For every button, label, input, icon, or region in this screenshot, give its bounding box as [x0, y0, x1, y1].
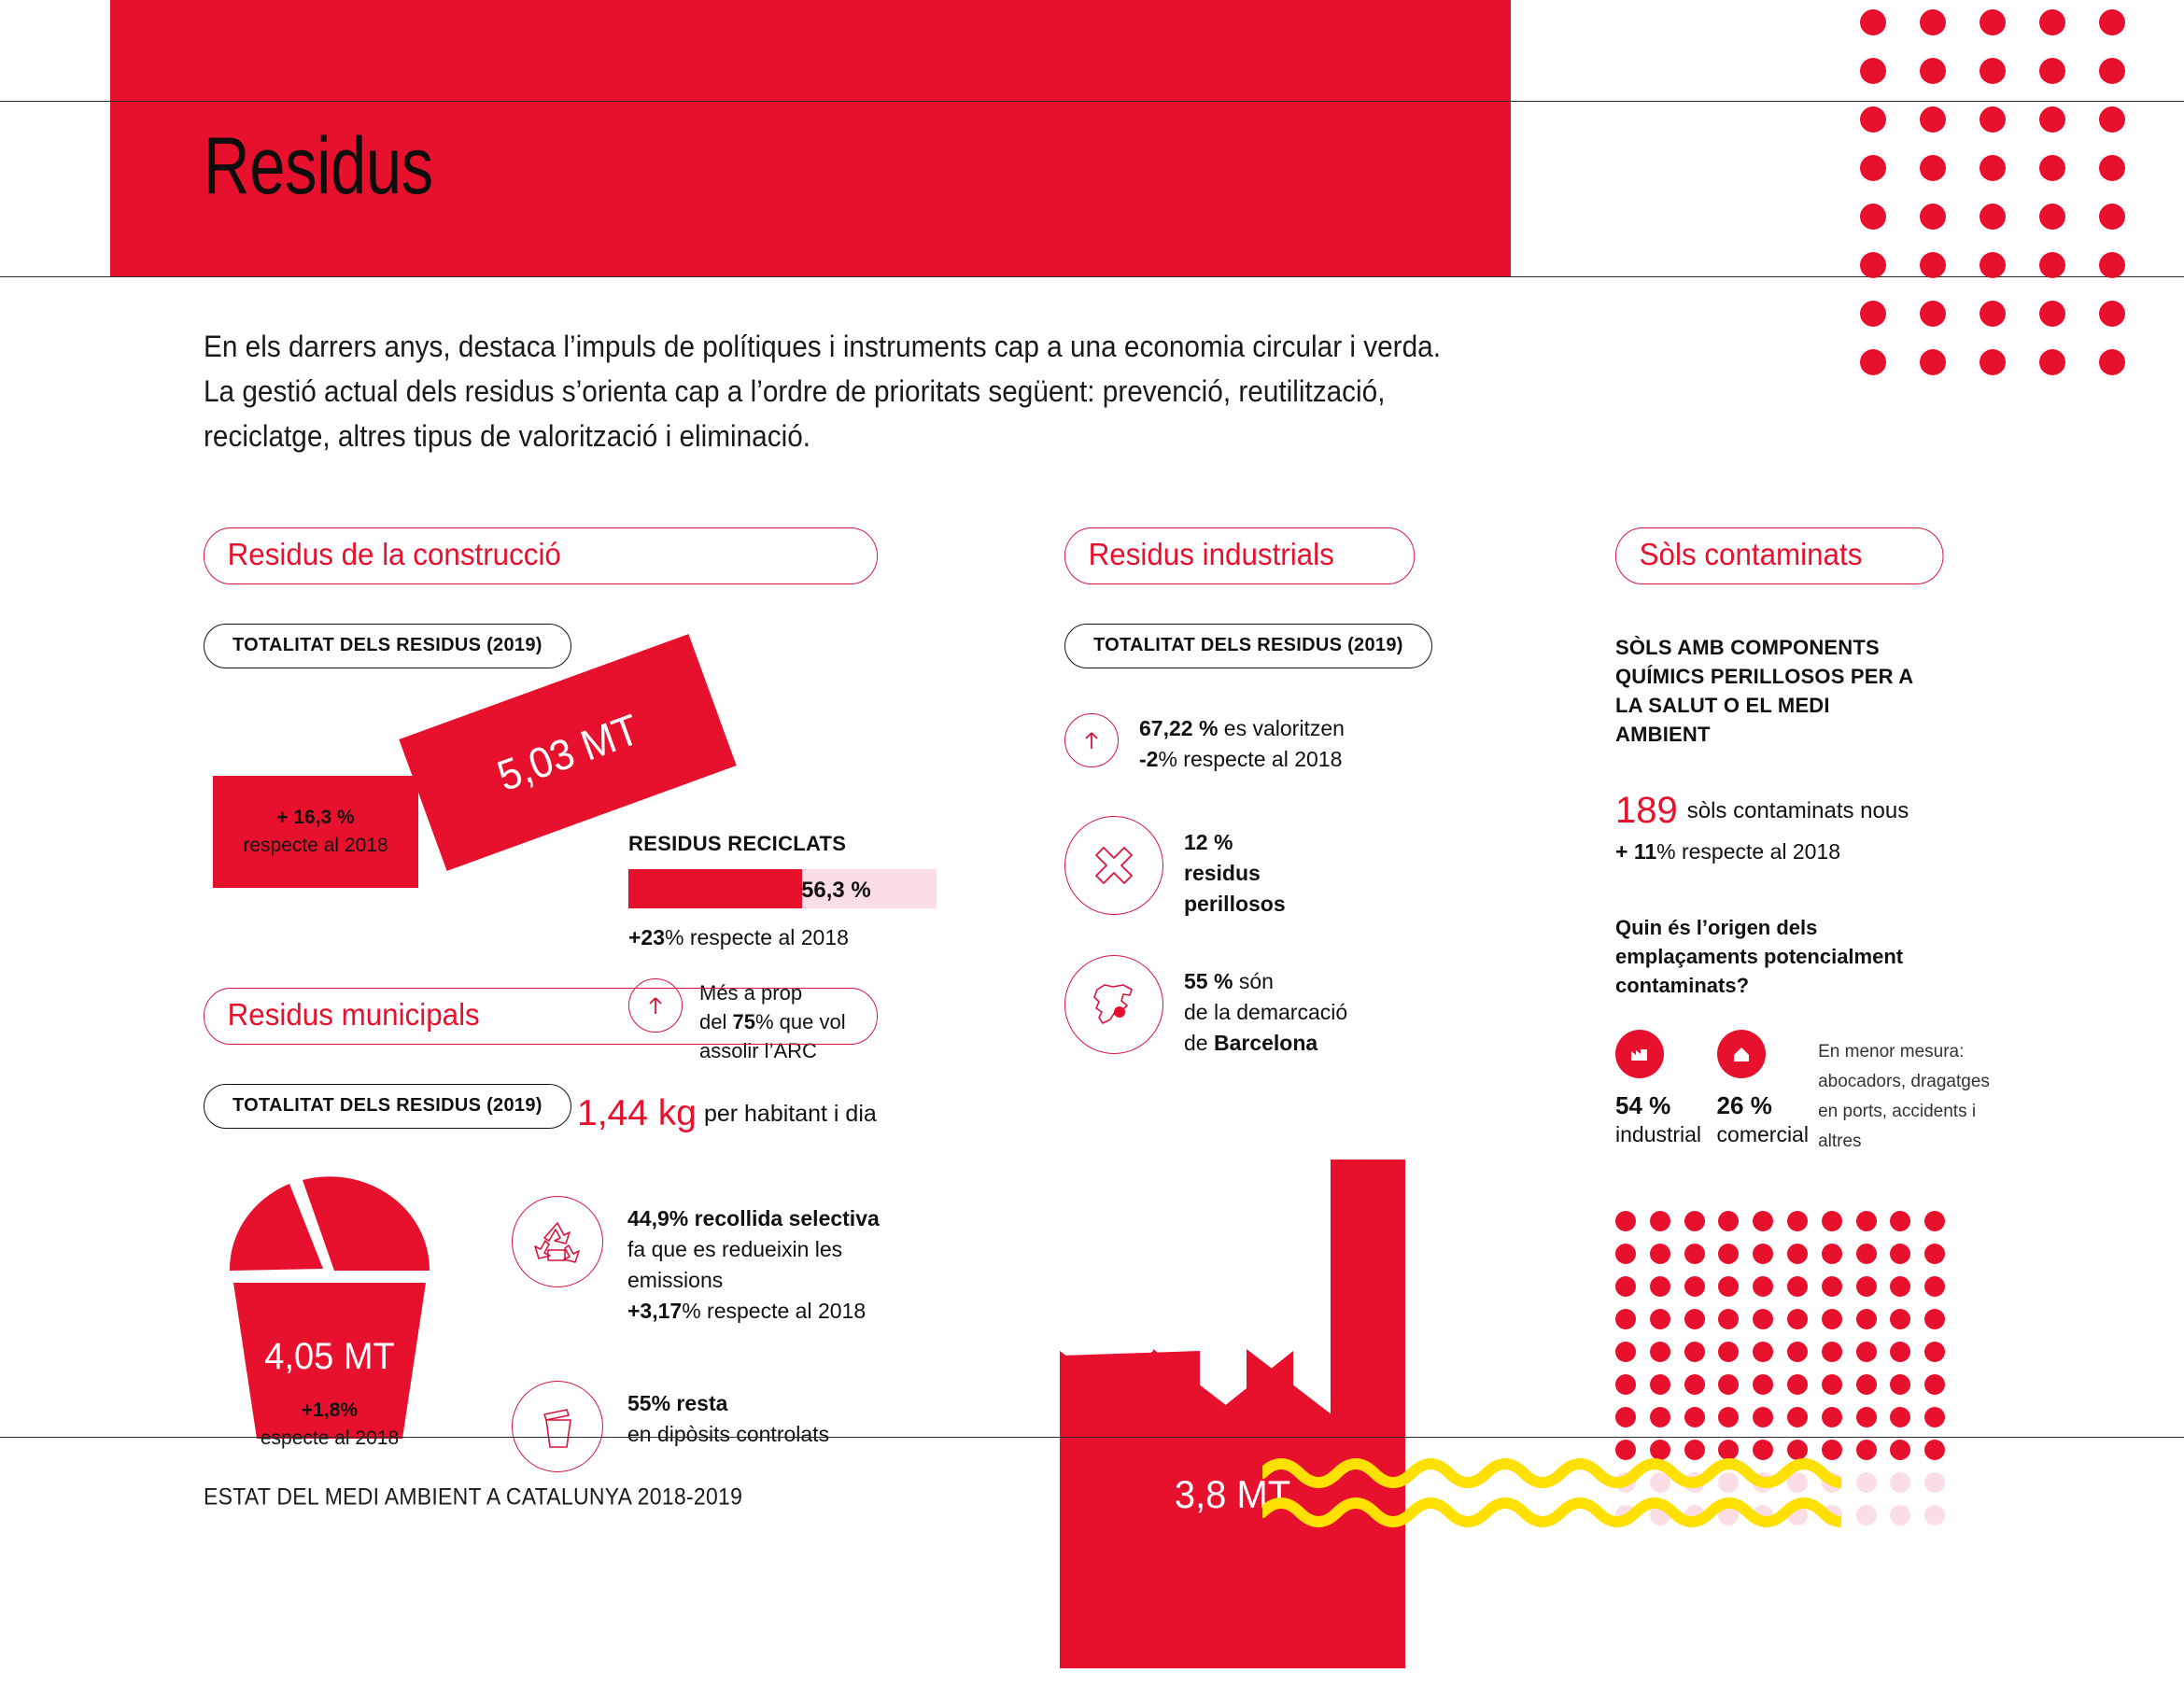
grid-dot [1822, 1309, 1842, 1329]
recycled-delta-rest: % respecte al 2018 [665, 925, 849, 949]
dot [2099, 155, 2125, 181]
grid-dot [1856, 1342, 1877, 1362]
recycled-delta: +23% respecte al 2018 [628, 925, 946, 950]
item-line1-bold: 55% [627, 1391, 670, 1415]
dot [1920, 301, 1946, 327]
soils-delta-bold: + 11 [1615, 839, 1656, 864]
grid-dot [1684, 1276, 1705, 1297]
grid-dot [1615, 1407, 1636, 1427]
dot [1920, 9, 1946, 35]
grid-dot [1890, 1276, 1910, 1297]
soils-count-line: 189sòls contaminats nous [1615, 790, 2008, 832]
grid-dot [1650, 1374, 1670, 1395]
grid-dot [1650, 1407, 1670, 1427]
soils-delta: + 11% respecte al 2018 [1615, 839, 2008, 865]
construction-delta-ref: respecte al 2018 [243, 832, 387, 860]
grid-dot [1684, 1309, 1705, 1329]
grid-dot [1753, 1244, 1773, 1264]
industrial-item-barcelona: 55 % són de la demarcació de de Barcelon… [1064, 955, 1466, 1059]
item-line1-rest: recollida selectiva [688, 1206, 880, 1230]
section-title-construction: Residus de la construcció [204, 527, 878, 584]
grid-dot [1718, 1309, 1739, 1329]
ind-line3: de de BarcelonaBarcelona [1184, 1031, 1317, 1055]
dot [1860, 252, 1886, 278]
grid-dot [1615, 1342, 1636, 1362]
ind-line2-bold: residus [1184, 861, 1261, 885]
origin-label: industrial [1615, 1122, 1717, 1147]
soils-count-label: sòls contaminats nous [1687, 798, 1909, 823]
dot [1920, 155, 1946, 181]
dot [1860, 155, 1886, 181]
grid-dot [1822, 1374, 1842, 1395]
grid-dot [1718, 1342, 1739, 1362]
item-line2: fa que es redueixin les emissions [627, 1237, 842, 1292]
footer-text: ESTAT DEL MEDI AMBIENT A CATALUNYA 2018-… [204, 1484, 742, 1511]
grid-dot [1924, 1472, 1945, 1493]
grid-dot [1822, 1211, 1842, 1231]
section-title-soils: Sòls contaminats [1615, 527, 1944, 584]
recycled-title: RESIDUS RECICLATS [628, 832, 946, 856]
grid-dot [1615, 1211, 1636, 1231]
dot [2039, 204, 2065, 230]
ind-line1-bold: 55 % [1184, 969, 1233, 993]
grid-dot [1787, 1276, 1808, 1297]
grid-dot [1890, 1211, 1910, 1231]
construction-delta-pct: + 16,3 % [276, 804, 354, 832]
grid-dot [1890, 1309, 1910, 1329]
dot [1980, 58, 2006, 84]
origin-label: comercial [1717, 1122, 1819, 1147]
grid-dot [1822, 1407, 1842, 1427]
dot [1980, 204, 2006, 230]
grid-dot [1718, 1276, 1739, 1297]
header-dot-pattern [1860, 9, 2103, 398]
rule-bottom [0, 1437, 2184, 1438]
grid-dot [1890, 1342, 1910, 1362]
grid-dot [1787, 1211, 1808, 1231]
page-title: Residus [204, 126, 433, 206]
dot [2099, 349, 2125, 375]
dot [2099, 106, 2125, 133]
ind-line3: perillosos [1184, 892, 1286, 916]
dot [1980, 155, 2006, 181]
ind-line1-bold: 12 % [1184, 830, 1233, 854]
industrial-item-valued: 67,22 % es valoritzen -2% respecte al 20… [1064, 713, 1466, 775]
origin-pct: 54 % [1615, 1091, 1717, 1120]
item-line3-bold: +3,17 [627, 1299, 682, 1323]
dot [2039, 155, 2065, 181]
grid-dot [1924, 1505, 1945, 1525]
grid-dot [1890, 1374, 1910, 1395]
grid-dot [1615, 1276, 1636, 1297]
grid-dot [1924, 1211, 1945, 1231]
house-icon [1717, 1030, 1766, 1078]
grid-dot [1684, 1374, 1705, 1395]
grid-dot [1890, 1505, 1910, 1525]
dot [1980, 9, 2006, 35]
industrial-item-text: 12 % residus perillosos [1184, 816, 1286, 920]
grid-dot [1615, 1309, 1636, 1329]
recycle-icon [512, 1196, 603, 1287]
column-construction-municipal: Residus de la construcció TOTALITAT DELS… [204, 527, 941, 1607]
dot [2099, 301, 2125, 327]
soils-delta-rest: % respecte al 2018 [1656, 839, 1840, 864]
pill-total-industrial: TOTALITAT DELS RESIDUS (2019) [1064, 624, 1432, 668]
municipal-item-text: 44,9% recollida selectiva fa que es redu… [627, 1196, 941, 1327]
dot [2039, 301, 2065, 327]
catalonia-map-icon [1064, 955, 1163, 1054]
grid-dot [1684, 1342, 1705, 1362]
municipal-item-text: 55% resta en dipòsits controlats [627, 1381, 829, 1450]
grid-dot [1856, 1407, 1877, 1427]
municipal-figure: TOTALITAT DELS RESIDUS (2019) 1,44 kgper… [204, 1084, 941, 1607]
per-capita-unit: per habitant i dia [704, 1101, 877, 1127]
grid-dot [1924, 1407, 1945, 1427]
grid-dot [1856, 1505, 1877, 1525]
per-capita-value: 1,44 kg [577, 1093, 697, 1133]
municipal-total-value: 4,05 MT [228, 1336, 432, 1378]
municipal-item-rest: 55% resta en dipòsits controlats [512, 1381, 941, 1472]
dot [1860, 9, 1886, 35]
grid-dot [1753, 1374, 1773, 1395]
dot [1980, 106, 2006, 133]
dot [1980, 301, 2006, 327]
dot [2039, 349, 2065, 375]
factory-shape [1060, 1160, 1433, 1682]
factory-figure: 3,8 MT [1060, 1160, 1452, 1682]
grid-dot [1650, 1276, 1670, 1297]
trash-bin-figure: 4,05 MT +1,8% especte al 2018 [222, 1173, 437, 1443]
origin-pct: 26 % [1717, 1091, 1819, 1120]
grid-dot [1684, 1407, 1705, 1427]
municipal-delta-pct: +1,8% [302, 1399, 358, 1421]
pill-total-municipal: TOTALITAT DELS RESIDUS (2019) [204, 1084, 571, 1129]
ind-line2-bold: -2 [1139, 747, 1158, 771]
factory-icon [1615, 1030, 1664, 1078]
origin-commercial: 26 % comercial [1717, 1030, 1819, 1147]
grid-dot [1856, 1244, 1877, 1264]
ind-line2-rest: % respecte al 2018 [1158, 747, 1342, 771]
item-line2: en dipòsits controlats [627, 1422, 829, 1446]
rule-mid [0, 276, 2184, 277]
municipal-items: 44,9% recollida selectiva fa que es redu… [512, 1196, 941, 1526]
dot [1860, 58, 1886, 84]
infographic-page: Residus En els darrers anys, destaca l’i… [0, 0, 2184, 1544]
ind-line1-bold: 67,22 % [1139, 716, 1218, 740]
dot [1860, 204, 1886, 230]
dot [2039, 106, 2065, 133]
dot [2099, 58, 2125, 84]
grid-dot [1924, 1244, 1945, 1264]
dot [1980, 252, 2006, 278]
grid-dot [1822, 1276, 1842, 1297]
cross-icon [1064, 816, 1163, 915]
ind-line1-rest: es valoritzen [1218, 716, 1345, 740]
origin-industrial: 54 % industrial [1615, 1030, 1717, 1147]
rule-top [0, 101, 2184, 102]
industrial-item-hazardous: 12 % residus perillosos [1064, 816, 1466, 920]
grid-dot [1650, 1244, 1670, 1264]
grid-dot [1787, 1374, 1808, 1395]
municipal-per-capita: 1,44 kgper habitant i dia [577, 1093, 877, 1134]
grid-dot [1890, 1407, 1910, 1427]
recycled-delta-bold: +23 [628, 925, 665, 949]
construction-delta-card: + 16,3 % respecte al 2018 [213, 776, 418, 888]
grid-dot [1615, 1374, 1636, 1395]
dot [2099, 9, 2125, 35]
grid-dot [1856, 1472, 1877, 1493]
grid-dot [1856, 1211, 1877, 1231]
soils-question: Quin és l’origen dels emplaçaments poten… [1615, 913, 1933, 1000]
grid-dot [1753, 1309, 1773, 1329]
grid-dot [1787, 1309, 1808, 1329]
grid-dot [1753, 1276, 1773, 1297]
grid-dot [1856, 1440, 1877, 1460]
intro-paragraph: En els darrers anys, destaca l’impuls de… [204, 324, 1445, 458]
dot [2039, 58, 2065, 84]
construction-total-value: 5,03 MT [490, 704, 645, 801]
dot [2039, 9, 2065, 35]
grid-dot [1650, 1211, 1670, 1231]
recycled-bar-label: 56,3 % [801, 878, 871, 904]
grid-dot [1924, 1342, 1945, 1362]
grid-dot [1753, 1211, 1773, 1231]
municipal-delta: +1,8% especte al 2018 [222, 1397, 437, 1453]
dot [1920, 106, 1946, 133]
grid-dot [1684, 1211, 1705, 1231]
dot [2039, 252, 2065, 278]
grid-dot [1924, 1440, 1945, 1460]
section-title-municipal: Residus municipals [204, 988, 878, 1045]
dot [1920, 349, 1946, 375]
dot [1860, 349, 1886, 375]
grid-dot [1718, 1244, 1739, 1264]
section-title-industrial: Residus industrials [1064, 527, 1415, 584]
dot [2099, 204, 2125, 230]
grid-dot [1856, 1276, 1877, 1297]
grid-dot [1856, 1309, 1877, 1329]
grid-dot [1822, 1342, 1842, 1362]
grid-dot [1924, 1309, 1945, 1329]
dot [1920, 204, 1946, 230]
item-line3-rest: % respecte al 2018 [682, 1299, 866, 1323]
construction-figure: + 16,3 % respecte al 2018 5,03 MT RESIDU… [204, 668, 941, 967]
grid-dot [1822, 1244, 1842, 1264]
grid-dot [1684, 1244, 1705, 1264]
grid-dot [1787, 1342, 1808, 1362]
grid-dot [1890, 1472, 1910, 1493]
soils-heading: SÒLS AMB COMPONENTS QUÍMICS PERILLOSOS P… [1615, 633, 1923, 749]
soils-count: 189 [1615, 790, 1678, 831]
grid-dot [1718, 1407, 1739, 1427]
grid-dot [1753, 1407, 1773, 1427]
yellow-wave-pattern [1262, 1453, 1841, 1541]
grid-dot [1650, 1309, 1670, 1329]
dot [1980, 349, 2006, 375]
recycled-bar-track: 56,3 % [628, 869, 937, 908]
grid-dot [1718, 1211, 1739, 1231]
item-line1-rest: resta [670, 1391, 727, 1415]
arrow-up-icon [1064, 713, 1119, 767]
grid-dot [1856, 1374, 1877, 1395]
ind-line2-rest: de la demarcació [1184, 1000, 1347, 1024]
origin-note: En menor mesura: abocadors, dragatges en… [1818, 1030, 2008, 1157]
grid-dot [1924, 1374, 1945, 1395]
trash-bin-icon [512, 1381, 603, 1472]
grid-dot [1718, 1374, 1739, 1395]
grid-dot [1650, 1342, 1670, 1362]
dot [1920, 58, 1946, 84]
grid-dot [1890, 1440, 1910, 1460]
municipal-delta-ref: especte al 2018 [261, 1427, 399, 1449]
grid-dot [1890, 1244, 1910, 1264]
ind-line1-rest: són [1233, 969, 1273, 993]
dot [1860, 301, 1886, 327]
grid-dot [1787, 1407, 1808, 1427]
column-soils: Sòls contaminats SÒLS AMB COMPONENTS QUÍ… [1615, 527, 2008, 1525]
dot [1920, 252, 1946, 278]
dot [2099, 252, 2125, 278]
item-line1-bold: 44,9% [627, 1206, 688, 1230]
soils-origins: 54 % industrial 26 % comercial En menor … [1615, 1030, 2008, 1157]
grid-dot [1924, 1276, 1945, 1297]
recycled-bar-fill [628, 869, 802, 908]
industrial-item-text: 55 % són de la demarcació de de Barcelon… [1184, 955, 1347, 1059]
municipal-item-selective: 44,9% recollida selectiva fa que es redu… [512, 1196, 941, 1327]
grid-dot [1787, 1244, 1808, 1264]
pill-total-construction: TOTALITAT DELS RESIDUS (2019) [204, 624, 571, 668]
grid-dot [1615, 1244, 1636, 1264]
dot [1860, 106, 1886, 133]
industrial-item-text: 67,22 % es valoritzen -2% respecte al 20… [1139, 713, 1345, 775]
grid-dot [1753, 1342, 1773, 1362]
